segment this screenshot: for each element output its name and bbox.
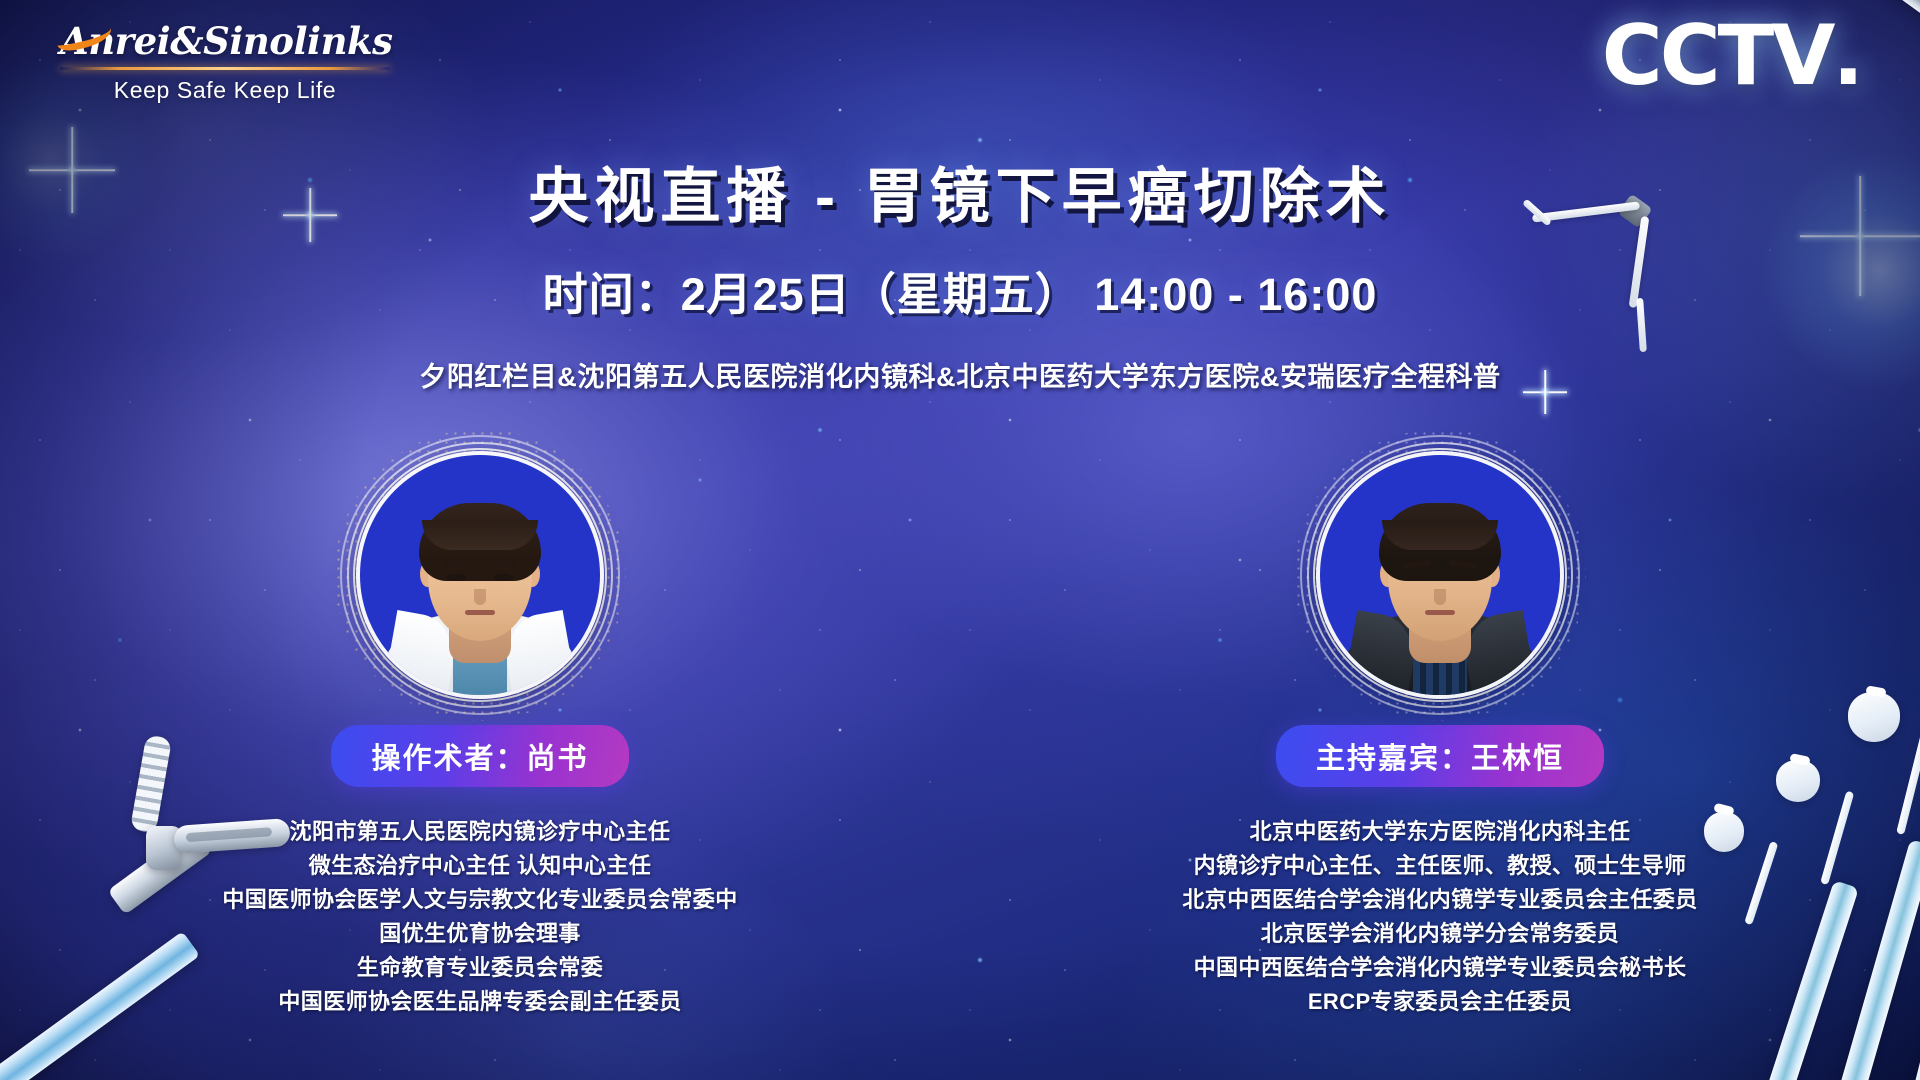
credential-line: 生命教育专业委员会常委 [222,951,737,985]
event-time: 时间：2月25日（星期五） 14:00 - 16:00 [0,258,1920,323]
speaker-card-operator: 操作术者：尚书 沈阳市第五人民医院内镜诊疗中心主任 微生态治疗中心主任 认知中心… [0,455,960,1020]
avatar-photo-operator [360,455,600,695]
credential-line: 中国中西医结合学会消化内镜学专业委员会秘书长 [1182,951,1697,985]
portrait-illustration [1320,455,1560,695]
credential-line: 中国医师协会医生品牌专委会副主任委员 [222,985,737,1019]
credential-line: 微生态治疗中心主任 认知中心主任 [222,849,737,883]
page-title: 央视直播 - 胃镜下早癌切除术 [0,148,1920,235]
credential-line: 北京医学会消化内镜学分会常务委员 [1182,917,1697,951]
speaker-role-badge: 操作术者：尚书 [331,725,628,787]
cctv-logo-dot: . [1832,7,1864,104]
credential-line: 北京中医药大学东方医院消化内科主任 [1182,815,1697,849]
portrait-illustration [360,455,600,695]
credential-line: 沈阳市第五人民医院内镜诊疗中心主任 [222,815,737,849]
credential-line: 内镜诊疗中心主任、主任医师、教授、硕士生导师 [1182,849,1697,883]
brand-wordmark: Anrei&Sinolinks [60,18,390,64]
avatar [360,455,600,695]
credential-line: 国优生优育协会理事 [222,917,737,951]
brand-logo: Anrei&Sinolinks Keep Safe Keep Life [60,18,390,104]
credential-line: ERCP专家委员会主任委员 [1182,985,1697,1019]
livestream-poster: Anrei&Sinolinks Keep Safe Keep Life CCTV… [0,0,1920,1080]
brand-divider [60,67,390,70]
speaker-card-host: 主持嘉宾：王林恒 北京中医药大学东方医院消化内科主任 内镜诊疗中心主任、主任医师… [960,455,1920,1020]
organizers: 夕阳红栏目&沈阳第五人民医院消化内镜科&北京中医药大学东方医院&安瑞医疗全程科普 [0,355,1920,394]
credential-line: 中国医师协会医学人文与宗教文化专业委员会常委中 [222,883,737,917]
avatar [1320,455,1560,695]
speaker-credentials: 北京中医药大学东方医院消化内科主任 内镜诊疗中心主任、主任医师、教授、硕士生导师… [1182,815,1697,1020]
avatar-photo-host [1320,455,1560,695]
brand-tagline: Keep Safe Keep Life [60,77,390,104]
speaker-credentials: 沈阳市第五人民医院内镜诊疗中心主任 微生态治疗中心主任 认知中心主任 中国医师协… [222,815,737,1020]
cctv-logo-text: CCTV [1602,7,1833,104]
cctv-logo: CCTV. [1602,14,1864,97]
speaker-role-badge: 主持嘉宾：王林恒 [1276,725,1604,787]
credential-line: 北京中西医结合学会消化内镜学专业委员会主任委员 [1182,883,1697,917]
speaker-list: 操作术者：尚书 沈阳市第五人民医院内镜诊疗中心主任 微生态治疗中心主任 认知中心… [0,455,1920,1020]
